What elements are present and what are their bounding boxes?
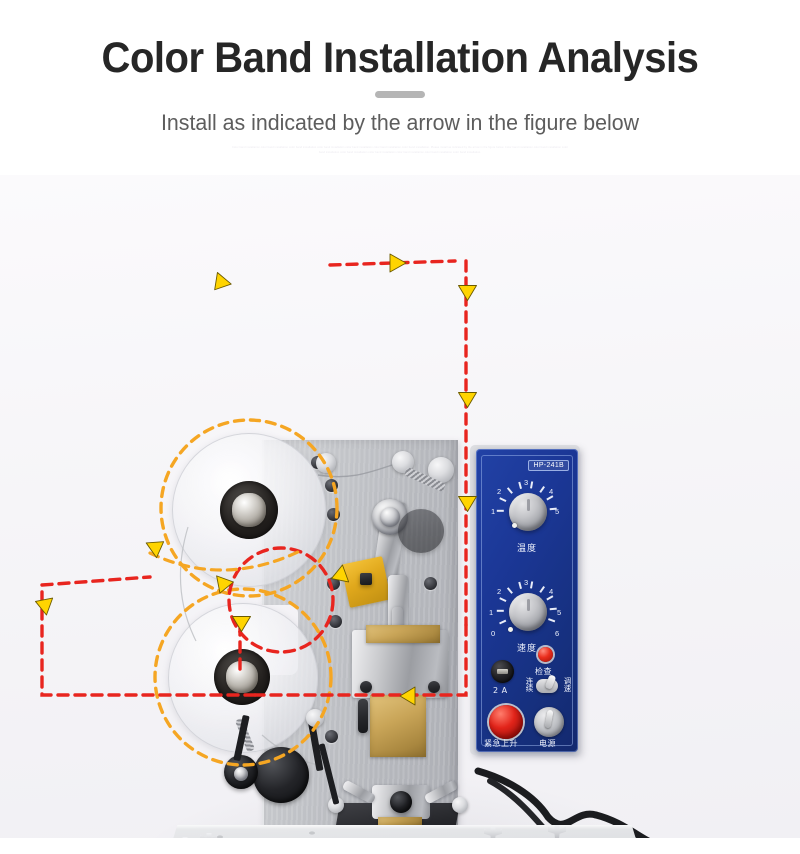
dial-tick-label: 1 [489,608,493,617]
fuse-holder[interactable] [491,660,514,683]
speed-pointer [508,627,513,632]
ribbon-path-top [330,261,455,265]
dial-tick [507,588,513,594]
continuous-label: 连续 [524,677,535,692]
screw-hole [329,615,342,628]
carriage-bolt [428,681,440,693]
dial-tick-label: 5 [557,608,561,617]
dial-tick [499,598,506,602]
carriage-bolt [360,681,372,693]
check-indicator-led [538,647,553,662]
dial-tick [499,620,506,624]
arrow-icon [146,534,169,557]
dial-tick [499,498,506,502]
heat-platen-upper [366,625,440,643]
spool-nut-lower [226,661,258,693]
dial-tick-label: 1 [491,507,495,516]
fuse-label: 2 A [493,686,508,695]
dial-tick [547,595,554,600]
temperature-pointer [512,523,517,528]
print-head-hub [390,791,412,813]
dial-tick [530,481,533,488]
control-panel: HP-241B 1 2 3 4 5 温度 [476,449,578,752]
screw-hole [327,508,340,521]
page-title: Color Band Installation Analysis [28,32,772,84]
screw-hole [325,730,338,743]
dial-tick [530,581,533,588]
header-section: Color Band Installation Analysis Install… [0,0,800,175]
dial-tick-label: 3 [524,478,528,487]
dial-tick-label: 2 [497,487,501,496]
dial-tick [548,618,555,622]
cam-disc [398,509,444,553]
speed-knob[interactable] [509,593,547,631]
screw-hole [325,479,338,492]
dial-tick [497,510,504,512]
dial-tick-label: 4 [549,587,553,596]
pivot-nut-upper-inner [380,507,400,527]
mode-toggle-switch[interactable] [536,679,558,693]
emergency-lift-label: 紧急上升 [484,738,518,749]
model-label: HP-241B [528,460,569,471]
dial-tick-label: 5 [555,507,559,516]
heat-platen-body [370,695,426,757]
dial-tick [540,486,545,493]
temperature-dial[interactable]: 1 2 3 4 5 温度 [495,479,559,543]
drive-roller-large [253,747,309,803]
screw-hole [327,577,340,590]
dial-tick [518,482,521,489]
dial-tick [540,586,545,593]
dial-tick-label: 2 [497,587,501,596]
arrow-icon [208,272,231,295]
arrow-icon [459,286,477,301]
dial-tick [550,608,557,610]
title-divider [375,91,425,98]
dial-tick-label: 4 [549,487,553,496]
work-table-top [152,825,657,838]
dial-tick [518,582,521,589]
dial-tick-label: 3 [524,578,528,587]
power-label: 电源 [539,738,556,749]
belt-idler [306,709,324,727]
guide-roller-top-left [316,453,336,473]
head-roller-right [452,797,468,813]
temperature-label: 温度 [495,541,559,554]
speed-dial[interactable]: 0 1 2 3 4 5 6 速度 [495,579,559,643]
dial-tick-label: 0 [491,629,495,638]
fineprint-watermark: Color band installation color band insta… [230,146,570,155]
dial-tick [547,495,554,500]
arrow-icon [459,393,477,408]
arrow-icon [390,254,406,272]
page-root: Color Band Installation Analysis Install… [0,0,800,854]
dial-tick [497,610,504,612]
dial-tick-label: 6 [555,629,559,638]
carriage-rail [358,699,368,733]
power-switch[interactable] [534,707,564,737]
spool-nut-upper [232,493,266,527]
type-plate [378,817,422,825]
drive-roller-hub [234,767,248,781]
speed-adjust-label: 调速 [562,677,573,692]
dial-tick [507,488,513,494]
micro-switch-button [360,573,372,585]
emergency-lift-button[interactable] [489,705,523,739]
product-photo: HP-241B 1 2 3 4 5 温度 [0,175,800,838]
page-subtitle: Install as indicated by the arrow in the… [12,108,788,138]
screw-hole [424,577,437,590]
arrow-icon [32,593,52,615]
